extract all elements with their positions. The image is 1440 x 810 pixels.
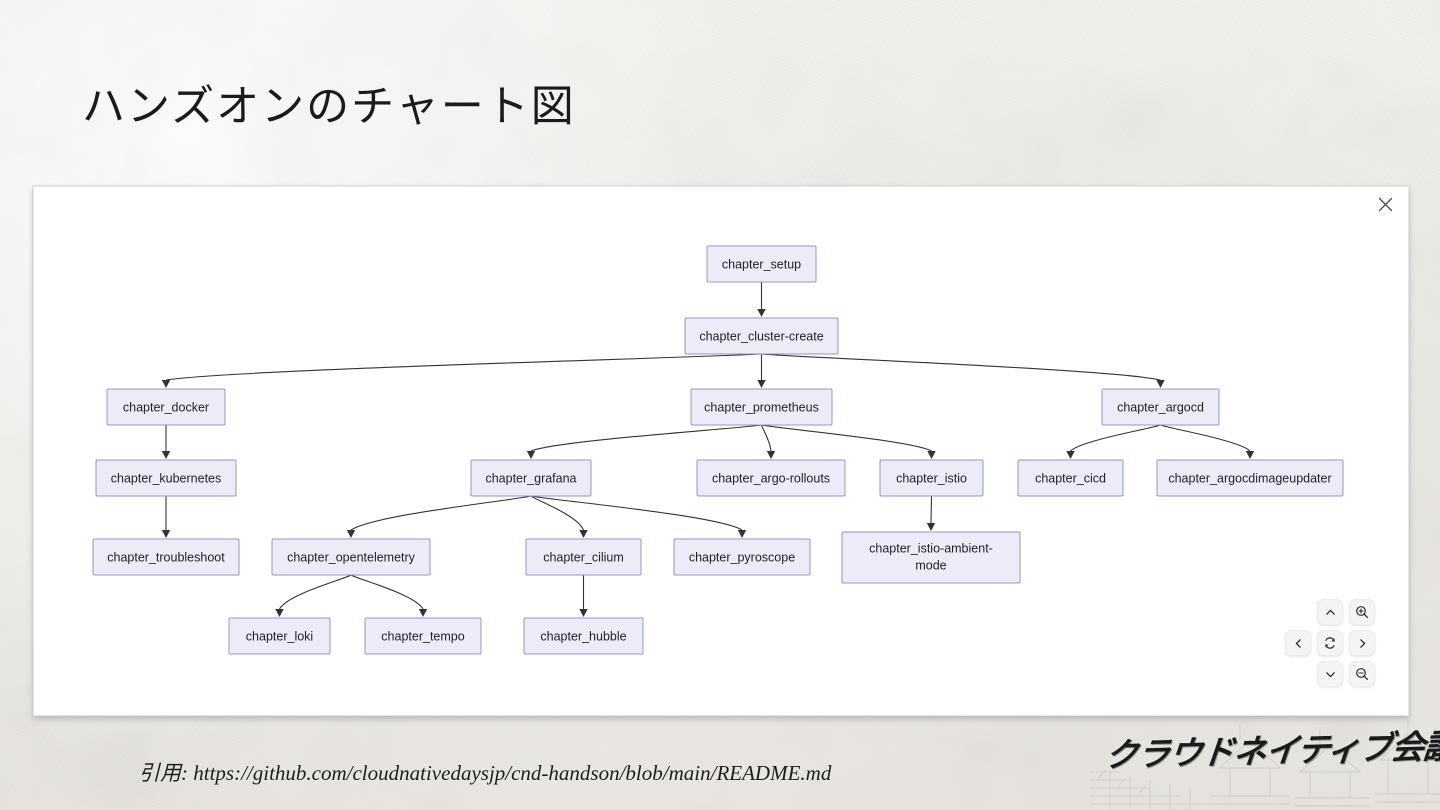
edge-arrowhead bbox=[738, 530, 746, 538]
flowchart-node[interactable]: chapter_pyroscope bbox=[674, 539, 810, 575]
flowchart-edge bbox=[166, 354, 762, 380]
flowchart-node-label: chapter_argocd bbox=[1117, 400, 1204, 414]
flowchart-node-label: chapter_tempo bbox=[381, 629, 464, 643]
brand-logo: クラウドネイティブ会議 bbox=[1090, 710, 1440, 810]
flowchart-edge bbox=[531, 425, 762, 451]
flowchart-node-label: chapter_hubble bbox=[540, 629, 626, 643]
flowchart-node[interactable]: chapter_kubernetes bbox=[96, 460, 236, 496]
edge-arrowhead bbox=[579, 609, 587, 617]
brand-name: クラウドネイティブ会議 bbox=[1103, 719, 1440, 776]
citation-text: 引用: https://github.com/cloudnativedaysjp… bbox=[139, 757, 831, 787]
reset-view-button[interactable] bbox=[1317, 630, 1343, 656]
flowchart-node[interactable]: chapter_opentelemetry bbox=[272, 539, 430, 575]
flowchart-node[interactable]: chapter_docker bbox=[107, 389, 225, 425]
pan-down-button[interactable] bbox=[1317, 661, 1343, 687]
flowchart-node[interactable]: chapter_tempo bbox=[365, 618, 481, 654]
flowchart-node[interactable]: chapter_setup bbox=[707, 246, 816, 282]
flowchart-node[interactable]: chapter_argocd bbox=[1102, 389, 1219, 425]
edge-arrowhead bbox=[162, 451, 170, 459]
flowchart-node[interactable]: chapter_argocdimageupdater bbox=[1157, 460, 1343, 496]
flowchart-graph: chapter_setupchapter_cluster-createchapt… bbox=[34, 187, 1408, 715]
flowchart-edge bbox=[351, 575, 423, 609]
flowchart-edge bbox=[762, 425, 772, 451]
flowchart-edge bbox=[762, 425, 932, 451]
flowchart-node-label: chapter_cicd bbox=[1035, 471, 1106, 485]
flowchart-node[interactable]: chapter_istio bbox=[880, 460, 983, 496]
flowchart-node[interactable]: chapter_loki bbox=[229, 618, 330, 654]
flowchart-node-label: chapter_cilium bbox=[543, 550, 624, 564]
edge-arrowhead bbox=[1156, 380, 1164, 388]
diagram-panel: chapter_setupchapter_cluster-createchapt… bbox=[33, 186, 1409, 716]
flowchart-node-label: chapter_kubernetes bbox=[111, 471, 222, 485]
zoom-out-button[interactable] bbox=[1349, 661, 1375, 687]
edge-arrowhead bbox=[579, 530, 587, 538]
flowchart-node[interactable]: chapter_troubleshoot bbox=[93, 539, 239, 575]
edge-arrowhead bbox=[1246, 451, 1254, 459]
edge-arrowhead bbox=[757, 309, 765, 317]
edge-arrowhead bbox=[1066, 451, 1074, 459]
flowchart-node[interactable]: chapter_istio-ambient-mode bbox=[842, 532, 1020, 583]
flowchart-edge bbox=[1071, 425, 1161, 451]
page-title: ハンズオンのチャート図 bbox=[82, 72, 576, 134]
flowchart-edge bbox=[531, 496, 584, 530]
pan-left-button[interactable] bbox=[1285, 630, 1311, 656]
flowchart-edge bbox=[280, 575, 352, 609]
flowchart-node-label: chapter_istio bbox=[896, 471, 967, 485]
flowchart-node-label: chapter_prometheus bbox=[704, 400, 819, 414]
flowchart-node[interactable]: chapter_prometheus bbox=[691, 389, 832, 425]
flowchart-node-label: chapter_troubleshoot bbox=[107, 550, 225, 564]
close-icon[interactable] bbox=[1372, 191, 1398, 217]
edge-arrowhead bbox=[275, 609, 283, 617]
edge-arrowhead bbox=[927, 523, 935, 531]
edge-arrowhead bbox=[927, 451, 935, 459]
edge-arrowhead bbox=[757, 380, 765, 388]
flowchart-node-label: chapter_opentelemetry bbox=[287, 550, 416, 564]
zoom-in-button[interactable] bbox=[1349, 599, 1375, 625]
flowchart-node[interactable]: chapter_cicd bbox=[1018, 460, 1123, 496]
flowchart-edge bbox=[931, 496, 932, 523]
edge-arrowhead bbox=[162, 530, 170, 538]
flowchart-node[interactable]: chapter_hubble bbox=[524, 618, 643, 654]
graph-nodes: chapter_setupchapter_cluster-createchapt… bbox=[93, 246, 1343, 654]
edge-arrowhead bbox=[419, 609, 427, 617]
flowchart-edge bbox=[1161, 425, 1251, 451]
flowchart-edge bbox=[351, 496, 531, 530]
flowchart-node[interactable]: chapter_argo-rollouts bbox=[697, 460, 845, 496]
edge-arrowhead bbox=[767, 451, 775, 459]
flowchart-node-label: chapter_grafana bbox=[485, 471, 576, 485]
flowchart-node-label: chapter_argo-rollouts bbox=[712, 471, 830, 485]
pan-up-button[interactable] bbox=[1317, 599, 1343, 625]
flowchart-node-label: chapter_setup bbox=[722, 257, 801, 271]
pan-right-button[interactable] bbox=[1349, 630, 1375, 656]
flowchart-node[interactable]: chapter_cluster-create bbox=[685, 318, 838, 354]
flowchart-edge bbox=[531, 496, 742, 530]
flowchart-node-label: chapter_loki bbox=[246, 629, 313, 643]
flowchart-node-label: chapter_cluster-create bbox=[699, 329, 823, 343]
edge-arrowhead bbox=[527, 451, 535, 459]
edge-arrowhead bbox=[162, 380, 170, 388]
flowchart-node[interactable]: chapter_grafana bbox=[471, 460, 591, 496]
graph-pan-zoom-controls bbox=[1296, 599, 1388, 692]
flowchart-node-label: chapter_pyroscope bbox=[689, 550, 795, 564]
flowchart-node-label: chapter_argocdimageupdater bbox=[1168, 471, 1331, 485]
edge-arrowhead bbox=[347, 530, 355, 538]
flowchart-node[interactable]: chapter_cilium bbox=[526, 539, 641, 575]
flowchart-node-label: chapter_docker bbox=[123, 400, 209, 414]
flowchart-edge bbox=[762, 354, 1161, 380]
